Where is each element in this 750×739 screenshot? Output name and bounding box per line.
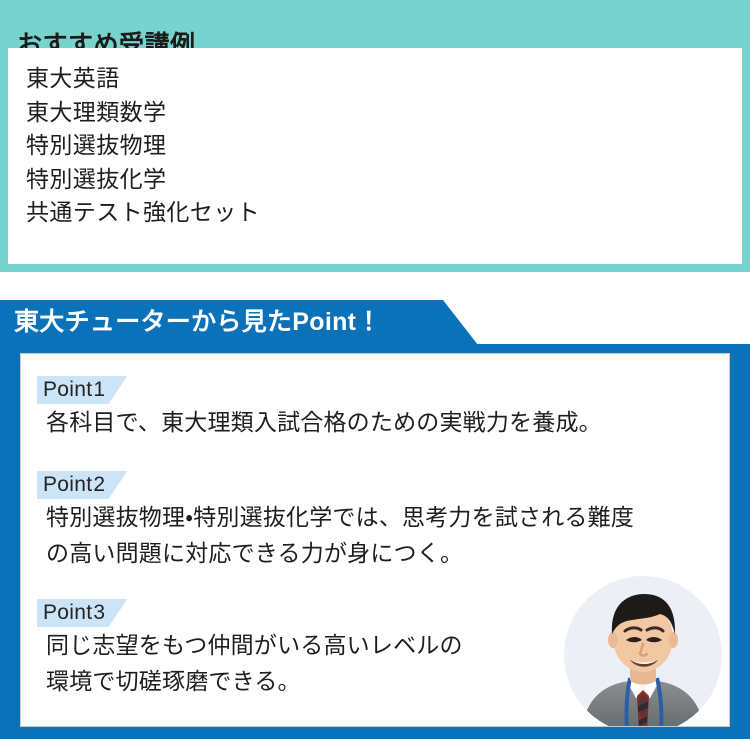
recommended-courses-body: 東大英語 東大理類数学 特別選抜物理 特別選抜化学 共通テスト強化セット (8, 48, 742, 264)
point-badge-number: 1 (93, 378, 105, 401)
tutor-point-panel: Point1 各科目で、東大理類入試合格のための実戦力を養成。 Point2 特… (20, 353, 730, 727)
list-item: 特別選抜化学 (26, 163, 260, 197)
recommended-courses-card: おすすめ受講例 東大英語 東大理類数学 特別選抜物理 特別選抜化学 共通テスト強… (0, 0, 750, 272)
point-badge-2: Point2 (37, 471, 127, 499)
tutor-avatar (564, 576, 722, 727)
point-badge-number: 3 (93, 601, 105, 624)
tutor-point-frame: Point1 各科目で、東大理類入試合格のための実戦力を養成。 Point2 特… (0, 344, 750, 739)
point-badge-label: Point (43, 378, 92, 401)
course-list: 東大英語 東大理類数学 特別選抜物理 特別選抜化学 共通テスト強化セット (26, 62, 260, 230)
list-item: 特別選抜物理 (26, 129, 260, 163)
point-text-line: 特別選抜物理・特別選抜化学では、思考力を試される難度 (46, 500, 634, 535)
list-item: 東大理類数学 (26, 96, 260, 130)
point-text-line: 同じ志望をもつ仲間がいる高いレベルの (46, 628, 463, 663)
point-text-line: 環境で切磋琢磨できる。 (46, 664, 463, 699)
point-item-3: Point3 同じ志望をもつ仲間がいる高いレベルの 環境で切磋琢磨できる。 (37, 599, 463, 699)
tutor-point-banner-title: 東大チューターから見たPoint！ (14, 305, 382, 339)
point-item-2: Point2 特別選抜物理・特別選抜化学では、思考力を試される難度 の高い問題に… (37, 471, 634, 571)
point-text-line: の高い問題に対応できる力が身につく。 (46, 536, 634, 571)
point-badge-label: Point (43, 601, 92, 624)
point-badge-label: Point (43, 473, 92, 496)
point-badge-3: Point3 (37, 599, 127, 627)
point-text-line: 各科目で、東大理類入試合格のための実戦力を養成。 (46, 405, 602, 440)
list-item: 東大英語 (26, 62, 260, 96)
list-item: 共通テスト強化セット (26, 196, 260, 230)
point-badge-number: 2 (93, 473, 105, 496)
tutor-portrait-icon (564, 576, 722, 727)
tutor-point-card: 東大チューターから見たPoint！ Point1 各科目で、東大理類入試合格のた… (0, 300, 750, 739)
point-badge-1: Point1 (37, 376, 127, 404)
point-item-1: Point1 各科目で、東大理類入試合格のための実戦力を養成。 (37, 376, 602, 440)
